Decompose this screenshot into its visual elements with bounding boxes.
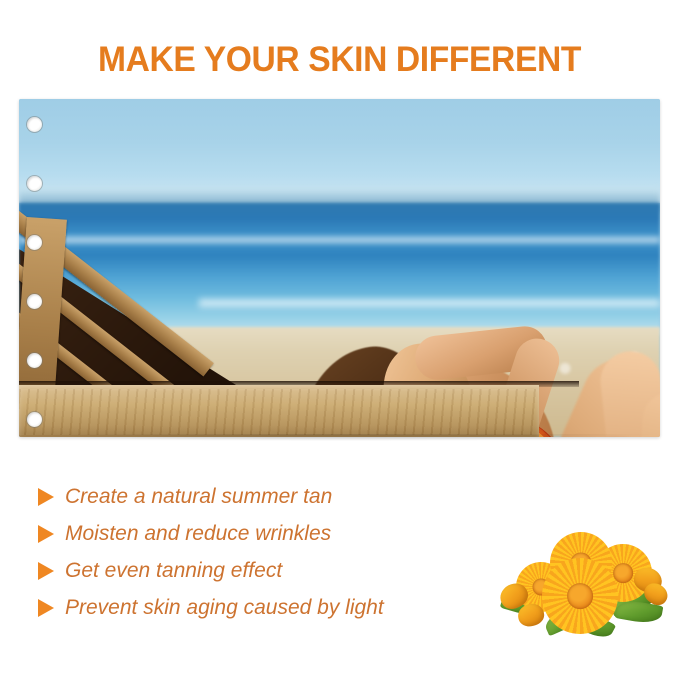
sky-background bbox=[19, 99, 660, 203]
calendula-flowers bbox=[498, 522, 670, 638]
punch-hole bbox=[27, 294, 42, 309]
punch-hole bbox=[27, 117, 42, 132]
list-item: Prevent skin aging caused by light bbox=[38, 589, 468, 626]
list-item: Create a natural summer tan bbox=[38, 478, 468, 515]
punch-hole bbox=[27, 353, 42, 368]
benefit-label: Create a natural summer tan bbox=[65, 485, 332, 509]
punch-hole bbox=[27, 412, 42, 427]
triangle-right-icon bbox=[38, 562, 54, 580]
benefit-label: Prevent skin aging caused by light bbox=[65, 596, 384, 620]
punch-hole bbox=[27, 235, 42, 250]
triangle-right-icon bbox=[38, 488, 54, 506]
triangle-right-icon bbox=[38, 525, 54, 543]
wood-grain bbox=[19, 389, 539, 435]
product-infographic: MAKE YOUR SKIN DIFFERENT bbox=[0, 0, 679, 679]
benefit-label: Moisten and reduce wrinkles bbox=[65, 522, 331, 546]
page-title: MAKE YOUR SKIN DIFFERENT bbox=[14, 40, 666, 80]
flower-bloom-main bbox=[542, 558, 618, 634]
photo-drop-shadow bbox=[26, 434, 654, 441]
list-item: Get even tanning effect bbox=[38, 552, 468, 589]
benefit-label: Get even tanning effect bbox=[65, 559, 282, 583]
hero-photo bbox=[19, 99, 660, 437]
triangle-right-icon bbox=[38, 599, 54, 617]
list-item: Moisten and reduce wrinkles bbox=[38, 515, 468, 552]
punch-hole bbox=[27, 176, 42, 191]
benefits-list: Create a natural summer tan Moisten and … bbox=[38, 478, 468, 626]
